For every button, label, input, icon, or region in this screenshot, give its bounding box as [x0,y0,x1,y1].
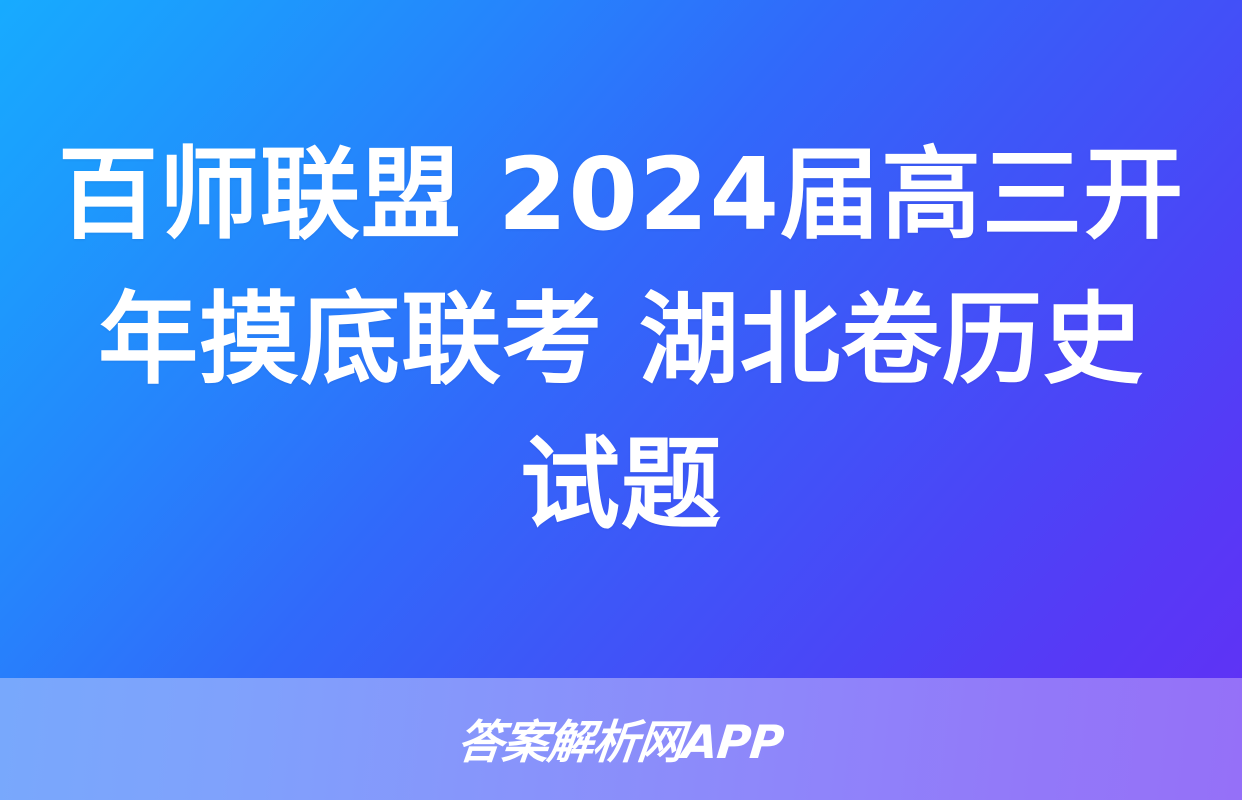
title-line-1: 百师联盟 2024届高三开 [58,122,1184,267]
title-line-2: 年摸底联考 湖北卷历史 [98,267,1144,412]
page-title: 百师联盟 2024届高三开 年摸底联考 湖北卷历史 试题 [0,0,1242,678]
hero-gradient-background: 百师联盟 2024届高三开 年摸底联考 湖北卷历史 试题 [0,0,1242,678]
title-line-3: 试题 [520,412,722,557]
footer-watermark-band: 答案解析网APP [0,678,1242,800]
watermark-text: 答案解析网APP [455,706,787,772]
title-card: 百师联盟 2024届高三开 年摸底联考 湖北卷历史 试题 答案解析网APP [0,0,1242,800]
